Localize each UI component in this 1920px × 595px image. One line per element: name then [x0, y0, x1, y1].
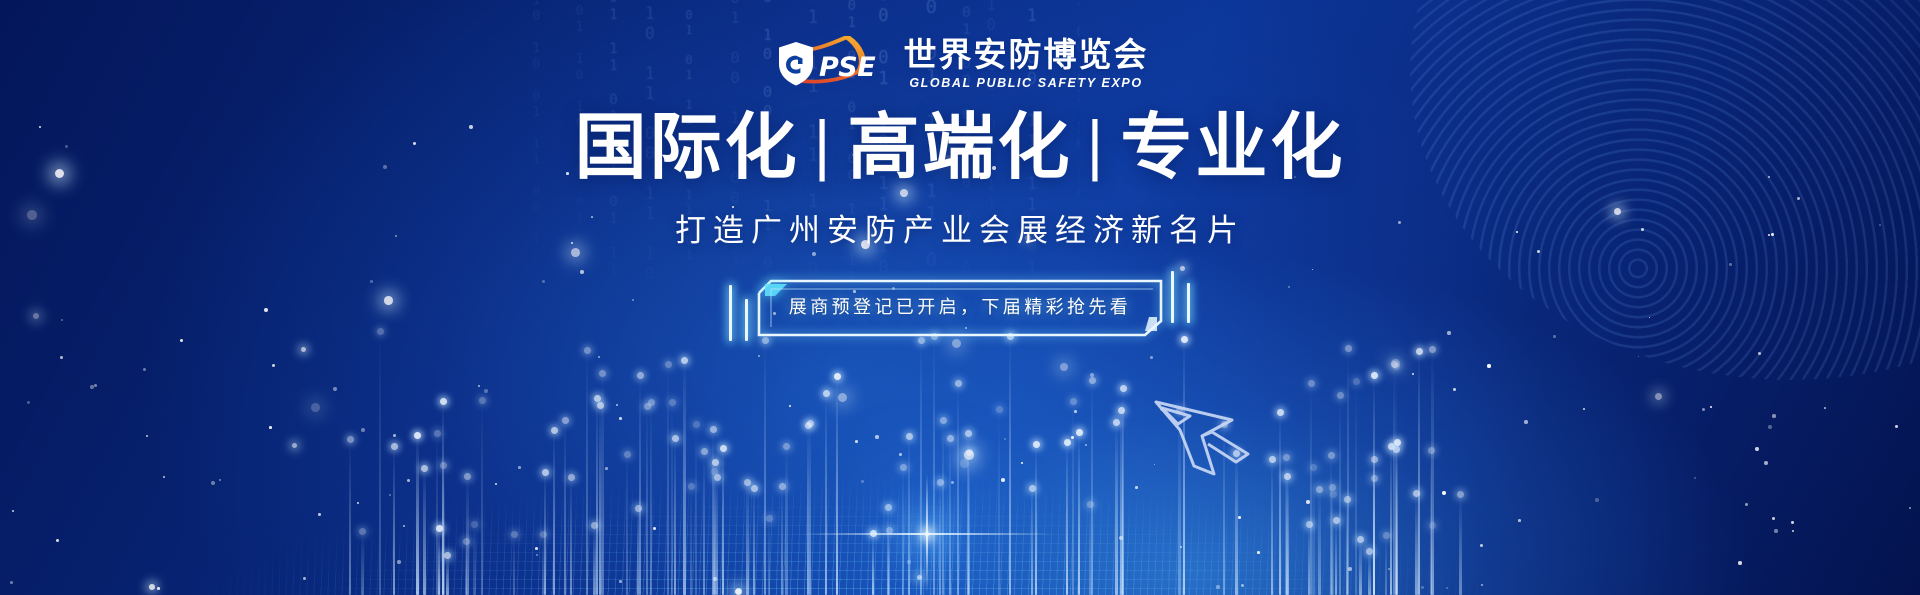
light-streak	[570, 477, 572, 595]
headline-part-2: 高端化	[847, 105, 1072, 189]
cta-label[interactable]: 展商预登记已开启，下届精彩抢先看	[725, 293, 1195, 319]
particle-dot	[1480, 544, 1483, 547]
light-streak	[1385, 535, 1387, 595]
particle-dot	[143, 368, 146, 371]
light-streak	[1459, 494, 1462, 595]
light-streak	[601, 373, 604, 595]
particle-dot	[1306, 500, 1310, 504]
particle-dot	[907, 560, 911, 564]
light-streak	[1009, 336, 1011, 595]
light-streak	[671, 402, 673, 595]
light-streak	[768, 518, 770, 595]
light-streak	[1286, 476, 1289, 595]
particle-dot	[361, 428, 365, 432]
light-streak	[1072, 401, 1074, 595]
light-streak	[809, 423, 811, 595]
light-streak	[650, 402, 652, 595]
logo-lockup: PSE 世界安防博览会 GLOBAL PUBLIC SAFETY EXPO	[0, 36, 1920, 94]
headline-part-1: 国际化	[575, 105, 800, 189]
particle-dot	[1792, 530, 1794, 532]
light-streak	[1395, 449, 1397, 595]
light-streak	[349, 439, 351, 595]
light-streak	[423, 468, 426, 595]
light-streak	[1122, 388, 1124, 595]
particle-dot	[211, 481, 215, 485]
particle-dot	[1085, 444, 1087, 446]
particle-dot	[1453, 388, 1456, 391]
particle-dot	[1447, 331, 1451, 335]
particle-dot	[1694, 477, 1696, 479]
binary-column: 01 01 11 11 11 01 01 01 10 01 01 11 11 0…	[682, 8, 695, 595]
particle-dot	[1764, 461, 1768, 465]
light-streak	[639, 375, 641, 595]
headline-separator-1: |	[800, 109, 848, 182]
gpse-shield-icon: PSE	[772, 36, 890, 94]
particle-dot	[357, 502, 359, 504]
light-streak	[942, 420, 944, 595]
particle-dot	[269, 426, 272, 429]
light-streak	[933, 336, 935, 595]
light-streak	[596, 398, 598, 595]
light-streak	[542, 534, 544, 595]
light-streak	[807, 425, 809, 595]
particle-dot	[1638, 356, 1639, 357]
light-streak	[416, 435, 419, 595]
light-streak	[967, 433, 969, 595]
particle-dot	[1774, 529, 1778, 533]
particle-dot	[389, 494, 391, 496]
particle-dot	[1119, 536, 1123, 540]
logo-title-en: GLOBAL PUBLIC SAFETY EXPO	[909, 76, 1142, 90]
light-streak	[872, 533, 874, 595]
particle-dot	[1702, 408, 1705, 411]
headline-part-3: 专业化	[1120, 105, 1345, 189]
light-streak	[442, 465, 445, 595]
light-streak	[1089, 504, 1091, 595]
particle-dot	[1791, 521, 1794, 524]
light-streak	[888, 530, 890, 595]
light-streak	[379, 331, 381, 595]
particle-dot	[1348, 567, 1352, 571]
light-streak	[712, 429, 714, 595]
particle-dot	[403, 525, 405, 527]
particle-dot	[219, 479, 221, 481]
light-streak	[438, 528, 440, 595]
particle-dot	[393, 434, 396, 437]
particle-dot	[495, 483, 497, 485]
particle-dot	[951, 481, 954, 484]
particle-dot	[311, 403, 320, 412]
light-streak	[753, 488, 755, 595]
wave-mesh-grid	[180, 405, 1520, 595]
light-streak	[825, 393, 827, 595]
particle-dot	[94, 384, 97, 387]
headline: 国际化|高端化|专业化	[0, 105, 1920, 190]
particle-dot	[1655, 393, 1662, 400]
light-streak	[836, 376, 838, 595]
particle-dot	[1537, 250, 1540, 253]
light-streak	[667, 364, 669, 595]
particle-dot	[838, 393, 847, 402]
light-streak	[1373, 375, 1375, 595]
light-streak	[1066, 442, 1068, 595]
light-streak	[1339, 395, 1341, 595]
light-streak	[393, 446, 395, 595]
particle-dot	[1421, 586, 1424, 589]
particle-dot	[292, 443, 297, 448]
light-streak	[1390, 446, 1392, 595]
particle-dot	[301, 347, 306, 352]
particle-dot	[397, 560, 401, 564]
particle-dot	[318, 513, 321, 516]
light-streak	[1091, 380, 1093, 595]
light-streak	[361, 531, 364, 595]
light-streak	[436, 433, 438, 595]
particle-dot	[1060, 363, 1068, 371]
light-streak	[473, 524, 476, 595]
light-streak	[722, 448, 724, 595]
particle-dot	[861, 480, 864, 483]
light-streak	[939, 482, 941, 595]
light-streak	[1312, 467, 1315, 595]
particle-dot	[812, 252, 816, 256]
particle-dot	[1180, 546, 1182, 548]
particle-dot	[542, 280, 545, 283]
light-streak	[1355, 381, 1357, 595]
particle-dot	[1772, 414, 1776, 418]
particle-dot	[1518, 519, 1521, 522]
light-streak	[637, 508, 639, 595]
particle-dot	[146, 435, 148, 437]
light-streak	[481, 400, 483, 595]
light-streak	[1331, 487, 1333, 595]
particle-dot	[875, 435, 879, 439]
particle-dot	[964, 450, 974, 460]
particle-dot	[303, 577, 306, 580]
particle-dot	[1021, 462, 1023, 464]
particle-dot	[1649, 317, 1650, 318]
particle-dot	[1071, 436, 1074, 439]
svg-text:PSE: PSE	[819, 52, 876, 83]
light-streak	[908, 436, 910, 595]
particle-dot	[149, 584, 155, 590]
light-streak	[887, 507, 889, 595]
particle-dot	[1797, 197, 1800, 200]
particle-dot	[157, 587, 160, 590]
particle-dot	[12, 510, 14, 512]
particle-dot	[407, 479, 410, 482]
particle-dot	[899, 453, 902, 456]
particle-dot	[1135, 486, 1138, 489]
particle-dot	[619, 417, 622, 420]
particle-dot	[653, 527, 656, 530]
particle-dot	[484, 389, 488, 393]
particle-dot	[1768, 425, 1772, 429]
particle-dot	[900, 189, 908, 197]
particle-dot	[1583, 408, 1585, 410]
particle-dot	[1312, 269, 1313, 270]
light-streak	[513, 534, 515, 595]
light-streak	[599, 405, 601, 595]
particle-dot	[1738, 561, 1742, 565]
light-streak	[1120, 410, 1123, 595]
light-streak	[553, 430, 555, 595]
light-streak	[674, 438, 676, 595]
particle-dot	[1446, 587, 1448, 589]
particle-dot	[758, 355, 760, 357]
particle-dot	[1729, 263, 1732, 266]
particle-dot	[90, 385, 94, 389]
light-streak	[1368, 551, 1371, 595]
cta-banner[interactable]: 展商预登记已开启，下届精彩抢先看	[725, 265, 1195, 347]
particle-dot	[1391, 359, 1400, 368]
logo-title-cn: 世界安防博览会	[904, 38, 1149, 73]
promotional-banner: 10 10 01 11 00 10 11 01 11 11 01 00 00 1…	[0, 0, 1920, 595]
particle-dot	[598, 356, 600, 358]
particle-dot	[1004, 438, 1006, 440]
particle-dot	[917, 575, 922, 580]
particle-dot	[163, 476, 165, 478]
particle-dot	[1895, 425, 1898, 428]
particle-dot	[735, 588, 742, 595]
light-streak	[957, 383, 959, 595]
light-streak	[1330, 455, 1332, 595]
light-streak	[1332, 494, 1334, 595]
light-streak	[1335, 520, 1337, 595]
particle-dot	[536, 554, 538, 556]
particle-dot	[1442, 491, 1446, 495]
particle-dot	[1090, 373, 1094, 377]
particle-dot	[1524, 420, 1528, 424]
light-streak	[1031, 488, 1033, 595]
headline-separator-2: |	[1073, 109, 1121, 182]
particle-dot	[1288, 286, 1290, 288]
light-streak	[1347, 348, 1349, 595]
particle-dot	[384, 296, 393, 305]
particle-dot	[370, 280, 373, 283]
light-streak	[1359, 539, 1362, 595]
particle-dot	[1909, 507, 1911, 509]
particle-dot	[616, 404, 618, 406]
particle-dot	[1745, 503, 1748, 506]
light-streak	[695, 424, 697, 595]
particle-dot	[60, 356, 63, 359]
light-streak	[1395, 366, 1397, 595]
particle-dot	[61, 319, 63, 321]
light-streak	[998, 409, 1000, 595]
light-streak	[713, 471, 715, 595]
particle-dot	[1241, 584, 1244, 587]
particle-dot	[1074, 410, 1077, 413]
particle-dot	[1553, 335, 1556, 338]
light-streak	[442, 401, 444, 595]
light-streak	[716, 477, 718, 595]
light-streak	[1115, 422, 1118, 595]
light-flare	[925, 532, 929, 536]
light-streak	[746, 482, 749, 595]
particle-dot	[1238, 516, 1241, 519]
light-streak	[902, 467, 904, 595]
particle-dot	[272, 364, 275, 367]
light-streak	[1396, 442, 1398, 595]
light-streak	[1373, 459, 1375, 595]
light-streak	[781, 486, 783, 595]
particle-dot	[27, 401, 30, 404]
light-streak	[683, 360, 686, 595]
light-streak	[465, 541, 467, 595]
particle-dot	[1710, 406, 1712, 408]
particle-dot	[1481, 584, 1483, 586]
light-streak	[564, 420, 566, 595]
particle-dot	[605, 467, 608, 470]
light-streak	[1430, 450, 1432, 595]
arrow-pointer-icon	[1150, 392, 1280, 497]
light-streak	[626, 454, 628, 595]
light-streak	[1078, 432, 1080, 595]
logo-title-block: 世界安防博览会 GLOBAL PUBLIC SAFETY EXPO	[904, 38, 1149, 90]
particle-dot	[1758, 352, 1761, 355]
light-streak	[446, 555, 449, 595]
particle-dot	[789, 405, 791, 407]
particle-dot	[1824, 407, 1826, 409]
light-streak	[1431, 525, 1434, 595]
particle-dot	[333, 387, 337, 391]
particle-dot	[580, 270, 584, 274]
subheadline: 打造广州安防产业会展经济新名片	[0, 205, 1920, 250]
light-streak	[1035, 444, 1037, 595]
light-streak	[1415, 493, 1418, 595]
particle-dot	[619, 580, 622, 583]
particle-dot	[960, 459, 969, 468]
light-streak	[1431, 349, 1434, 595]
light-streak	[920, 340, 922, 595]
light-streak	[1418, 351, 1420, 595]
light-streak	[1308, 524, 1310, 595]
light-streak	[1373, 478, 1375, 595]
light-streak	[968, 452, 970, 595]
particle-dot	[180, 339, 183, 342]
particle-dot	[535, 547, 538, 550]
light-streak	[785, 446, 788, 595]
light-streak	[764, 340, 766, 595]
light-streak	[703, 451, 705, 595]
light-streak	[586, 350, 588, 595]
particle-dot	[713, 577, 717, 581]
particle-dot	[1001, 478, 1005, 482]
particle-dot	[1388, 568, 1390, 570]
light-streak	[1310, 383, 1312, 595]
light-streak	[593, 525, 596, 595]
light-streak	[1318, 489, 1321, 595]
particle-dot	[518, 466, 521, 469]
particle-dot	[1150, 356, 1153, 359]
particle-dot	[632, 299, 634, 301]
particle-dot	[1216, 585, 1220, 589]
light-streak	[714, 462, 716, 595]
light-streak	[646, 406, 648, 595]
particle-dot	[1755, 447, 1759, 451]
particle-dot	[10, 581, 13, 584]
light-streak	[1393, 364, 1395, 595]
light-streak	[690, 486, 692, 595]
light-streak	[466, 476, 469, 595]
particle-dot	[1487, 364, 1491, 368]
particle-dot	[855, 440, 858, 443]
light-streak	[1346, 499, 1348, 595]
light-streak	[1285, 457, 1288, 595]
particle-dot	[478, 385, 480, 387]
light-streak	[949, 438, 951, 595]
particle-dot	[264, 308, 268, 312]
particle-dot	[33, 313, 39, 319]
light-streak	[544, 472, 546, 595]
particle-dot	[1772, 517, 1775, 520]
particle-dot	[1257, 551, 1260, 554]
particle-dot	[1412, 373, 1414, 375]
particle-dot	[1595, 498, 1599, 502]
particle-dot	[56, 539, 59, 542]
